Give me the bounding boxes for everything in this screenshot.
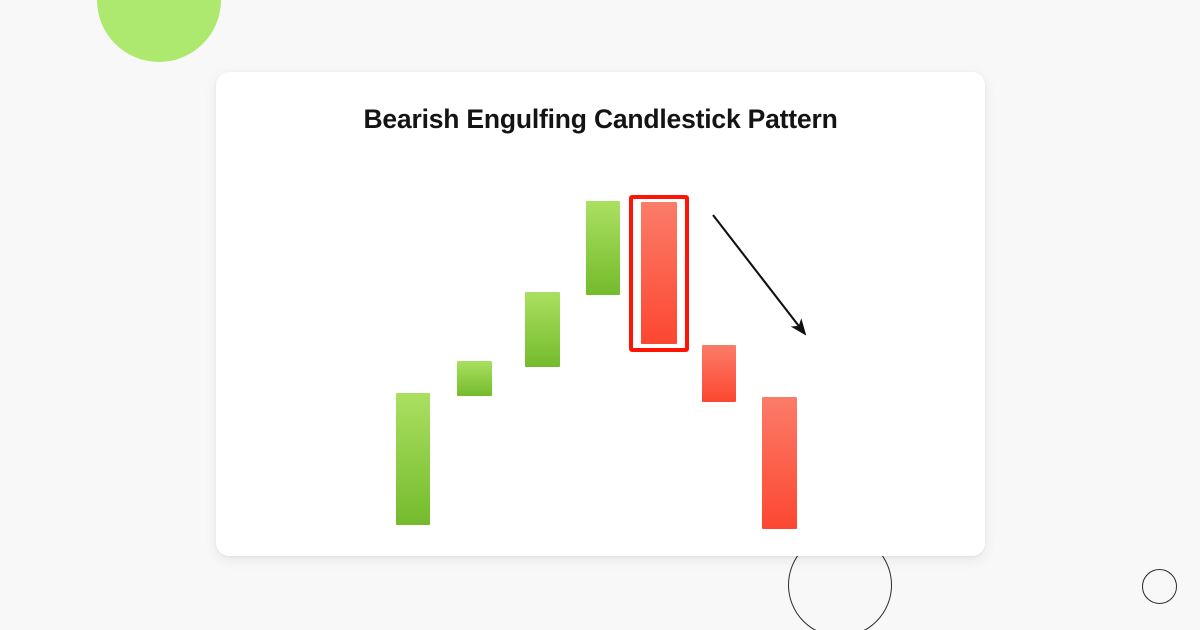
candlestick-chart-plot [216, 72, 985, 556]
candlestick-body-2 [457, 361, 492, 396]
candlestick-body-4 [586, 201, 620, 295]
candlestick-body-6 [702, 345, 736, 402]
green-circle-decoration [97, 0, 221, 62]
chart-card: Bearish Engulfing Candlestick Pattern [216, 72, 985, 556]
candlestick-body-7 [762, 397, 797, 529]
candlestick-body-3 [525, 292, 560, 367]
engulfing-highlight-box [629, 195, 689, 352]
candlestick-body-1 [396, 393, 430, 525]
outline-circle-small-decoration [1142, 569, 1177, 604]
downtrend-arrow-icon [216, 72, 985, 556]
